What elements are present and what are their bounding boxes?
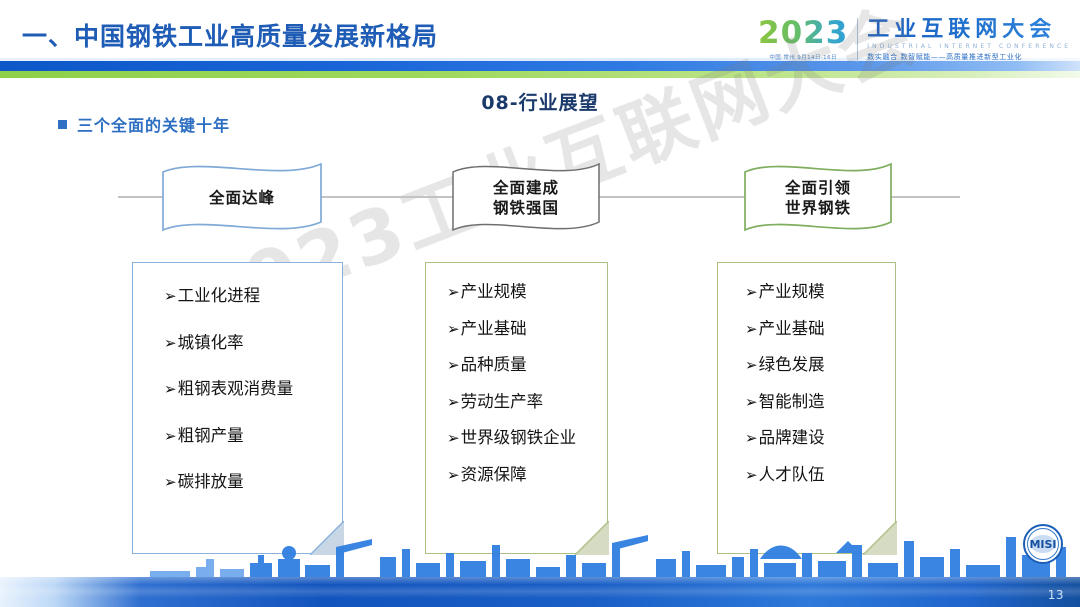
- conference-name-cn: 工业互联网大会: [867, 18, 1071, 41]
- bullet-heading: 三个全面的关键十年: [58, 112, 230, 136]
- list-item: ➢智能制造: [745, 394, 896, 411]
- list-item: ➢绿色发展: [745, 357, 896, 374]
- list-item: ➢品牌建设: [745, 430, 896, 447]
- header-rule-green: [0, 71, 1080, 78]
- list-item-label: 品种质量: [461, 357, 527, 374]
- page-number: 13: [1048, 588, 1064, 602]
- list-item-label: 城镇化率: [178, 335, 244, 352]
- list-item-label: 产业规模: [461, 284, 527, 301]
- list-item: ➢碳排放量: [164, 474, 343, 491]
- arrow-bullet-icon: ➢: [745, 468, 758, 483]
- banner-line: 全面达峰: [160, 189, 324, 209]
- list-item: ➢城镇化率: [164, 335, 343, 352]
- list-item: ➢品种质量: [447, 357, 608, 374]
- list-item: ➢产业规模: [745, 284, 896, 301]
- list-item-label: 智能制造: [759, 394, 825, 411]
- list-item-label: 绿色发展: [759, 357, 825, 374]
- list-item: ➢人才队伍: [745, 467, 896, 484]
- misi-logo: MISI: [1022, 523, 1064, 565]
- list-item-label: 粗钢产量: [178, 428, 244, 445]
- column-three: ➢产业规模➢产业基础➢绿色发展➢智能制造➢品牌建设➢人才队伍: [717, 262, 896, 554]
- list-item: ➢劳动生产率: [447, 394, 608, 411]
- list-item-label: 品牌建设: [759, 430, 825, 447]
- list-item: ➢资源保障: [447, 467, 608, 484]
- conference-logo: 2023 中国·常州 9月14日-16日 工业互联网大会 INDUSTRIAL …: [758, 18, 1071, 62]
- arrow-bullet-icon: ➢: [745, 431, 758, 446]
- list-item-label: 劳动生产率: [461, 394, 544, 411]
- list-item-label: 碳排放量: [178, 474, 244, 491]
- arrow-bullet-icon: ➢: [447, 358, 460, 373]
- bullet-heading-label: 三个全面的关键十年: [77, 112, 230, 136]
- conference-year: 2023: [758, 18, 848, 49]
- arrow-bullet-icon: ➢: [164, 289, 177, 304]
- list-item: ➢产业规模: [447, 284, 608, 301]
- banner-shijie-gangtie: 全面引领 世界钢铁: [742, 160, 894, 238]
- section-title: 08-行业展望: [0, 88, 1080, 115]
- conference-logo-year-block: 2023 中国·常州 9月14日-16日: [758, 18, 857, 61]
- banner-line: 全面引领: [742, 179, 894, 199]
- list-item-label: 产业规模: [759, 284, 825, 301]
- column-one: ➢工业化进程➢城镇化率➢粗钢表观消费量➢粗钢产量➢碳排放量: [132, 262, 343, 554]
- column-two: ➢产业规模➢产业基础➢品种质量➢劳动生产率➢世界级钢铁企业➢资源保障: [425, 262, 608, 554]
- arrow-bullet-icon: ➢: [447, 285, 460, 300]
- footer-band: [0, 577, 1080, 607]
- logo-divider: [857, 18, 858, 62]
- banner-label: 全面引领 世界钢铁: [742, 179, 894, 219]
- column-three-list: ➢产业规模➢产业基础➢绿色发展➢智能制造➢品牌建设➢人才队伍: [717, 262, 896, 503]
- banner-line: 世界钢铁: [742, 199, 894, 219]
- list-item-label: 产业基础: [759, 321, 825, 338]
- list-item-label: 世界级钢铁企业: [461, 430, 577, 447]
- list-item-label: 人才队伍: [759, 467, 825, 484]
- list-item: ➢世界级钢铁企业: [447, 430, 608, 447]
- arrow-bullet-icon: ➢: [447, 468, 460, 483]
- arrow-bullet-icon: ➢: [745, 322, 758, 337]
- banner-label: 全面达峰: [160, 189, 324, 209]
- conference-logo-name-block: 工业互联网大会 INDUSTRIAL INTERNET CONFERENCE 数…: [867, 18, 1071, 62]
- arrow-bullet-icon: ➢: [745, 395, 758, 410]
- list-item: ➢粗钢表观消费量: [164, 381, 343, 398]
- page-title: 一、中国钢铁工业高质量发展新格局: [22, 17, 438, 53]
- arrow-bullet-icon: ➢: [164, 475, 177, 490]
- arrow-bullet-icon: ➢: [447, 395, 460, 410]
- misi-logo-text: MISI: [1029, 538, 1056, 551]
- arrow-bullet-icon: ➢: [447, 431, 460, 446]
- conference-slogan: 数实融合 数智赋能——高质量推进新型工业化: [867, 52, 1071, 62]
- banner-line: 全面建成: [450, 179, 602, 199]
- conference-name-en: INDUSTRIAL INTERNET CONFERENCE: [867, 43, 1071, 50]
- arrow-bullet-icon: ➢: [745, 358, 758, 373]
- banner-gangtie-qiangguo: 全面建成 钢铁强国: [450, 160, 602, 238]
- list-item-label: 粗钢表观消费量: [178, 381, 294, 398]
- list-item-label: 资源保障: [461, 467, 527, 484]
- list-item: ➢粗钢产量: [164, 428, 343, 445]
- slide-canvas: 一、中国钢铁工业高质量发展新格局 2023 中国·常州 9月14日-16日 工业…: [0, 0, 1080, 607]
- city-skyline-graphic: [0, 519, 1080, 577]
- header-rule-blue: [0, 61, 1080, 71]
- column-one-list: ➢工业化进程➢城镇化率➢粗钢表观消费量➢粗钢产量➢碳排放量: [132, 262, 343, 521]
- arrow-bullet-icon: ➢: [447, 322, 460, 337]
- arrow-bullet-icon: ➢: [164, 336, 177, 351]
- list-item: ➢工业化进程: [164, 288, 343, 305]
- banner-line: 钢铁强国: [450, 199, 602, 219]
- arrow-bullet-icon: ➢: [164, 382, 177, 397]
- arrow-bullet-icon: ➢: [745, 285, 758, 300]
- list-item-label: 工业化进程: [178, 288, 261, 305]
- conference-date: 中国·常州 9月14日-16日: [769, 53, 836, 61]
- list-item: ➢产业基础: [745, 321, 896, 338]
- column-two-list: ➢产业规模➢产业基础➢品种质量➢劳动生产率➢世界级钢铁企业➢资源保障: [425, 262, 608, 503]
- arrow-bullet-icon: ➢: [164, 429, 177, 444]
- list-item: ➢产业基础: [447, 321, 608, 338]
- list-item-label: 产业基础: [461, 321, 527, 338]
- square-bullet-icon: [58, 120, 67, 129]
- banner-label: 全面建成 钢铁强国: [450, 179, 602, 219]
- banner-quanmian-dafeng: 全面达峰: [160, 160, 324, 238]
